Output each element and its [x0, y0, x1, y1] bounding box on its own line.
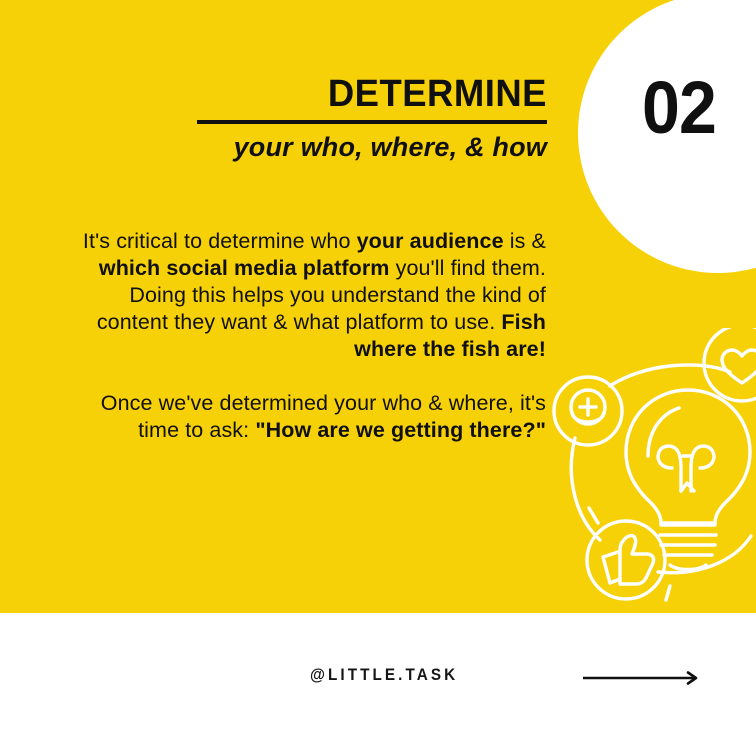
social-handle: @LITTLE.TASK: [310, 665, 458, 685]
body-paragraph-2: Once we've determined your who & where, …: [70, 390, 546, 444]
page-subtitle: your who, where, & how: [120, 131, 547, 164]
page-title: DETERMINE: [137, 72, 547, 116]
heading-block: DETERMINE your who, where, & how: [120, 72, 547, 164]
title-underline-rule: [197, 120, 547, 124]
body-paragraph-1: It's critical to determine who your audi…: [70, 228, 546, 363]
step-number: 02: [610, 60, 748, 156]
next-arrow-icon[interactable]: [583, 670, 701, 686]
body-copy: It's critical to determine who your audi…: [70, 228, 546, 444]
slide-canvas: 02 DETERMINE your who, where, & how It's…: [0, 0, 756, 756]
